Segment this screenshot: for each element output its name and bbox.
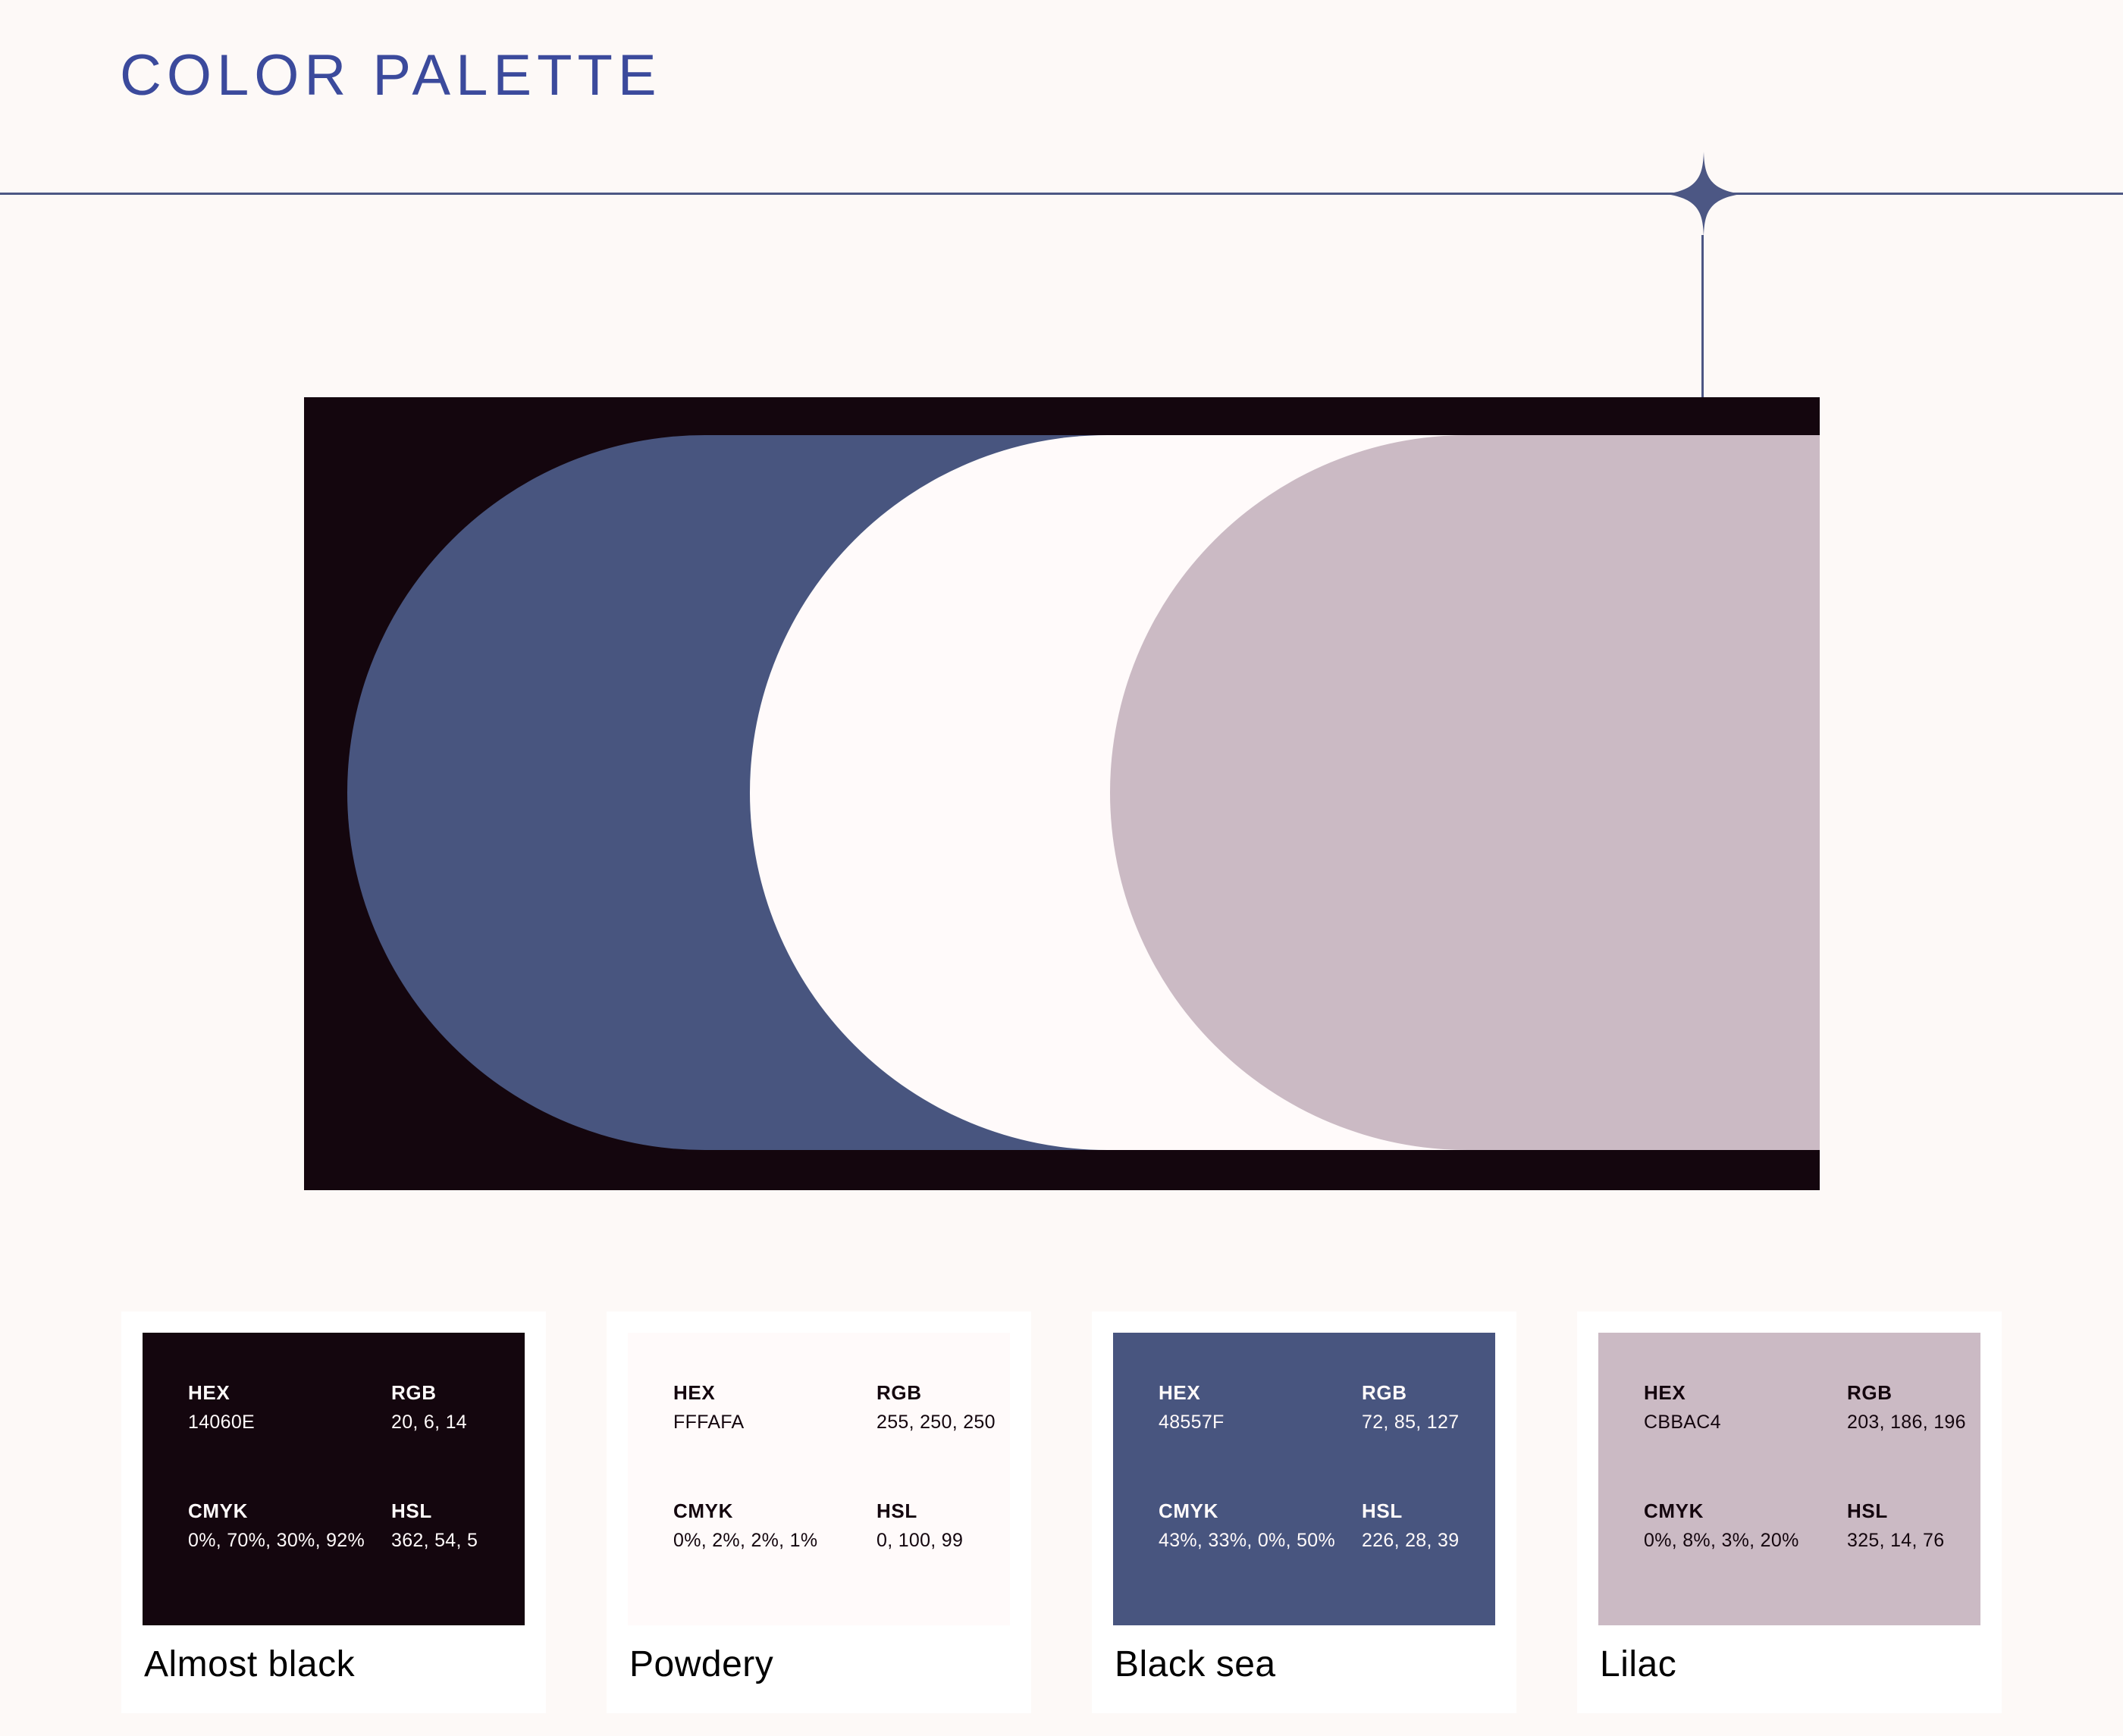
hsl-value: 0, 100, 99 — [876, 1529, 1010, 1553]
hsl-value: 226, 28, 39 — [1362, 1529, 1495, 1553]
hsl-field: HSL 226, 28, 39 — [1362, 1498, 1495, 1553]
color-swatch: HEX 14060E RGB 20, 6, 14 CMYK 0%, 70%, 3… — [143, 1333, 525, 1625]
hsl-label: HSL — [1362, 1498, 1495, 1524]
cmyk-label: CMYK — [673, 1498, 876, 1524]
color-name: Almost black — [144, 1645, 355, 1685]
hex-value: FFFAFA — [673, 1411, 876, 1434]
cmyk-value: 0%, 70%, 30%, 92% — [188, 1529, 391, 1553]
color-swatch: HEX FFFAFA RGB 255, 250, 250 CMYK 0%, 2%… — [628, 1333, 1010, 1625]
cmyk-field: CMYK 0%, 8%, 3%, 20% — [1644, 1498, 1847, 1553]
rgb-field: RGB 72, 85, 127 — [1362, 1380, 1495, 1434]
hex-field: HEX 48557F — [1159, 1380, 1362, 1434]
hsl-field: HSL 0, 100, 99 — [876, 1498, 1010, 1553]
hex-value: 48557F — [1159, 1411, 1362, 1434]
cmyk-value: 0%, 2%, 2%, 1% — [673, 1529, 876, 1553]
page-title: COLOR PALETTE — [120, 47, 662, 105]
cmyk-label: CMYK — [188, 1498, 391, 1524]
cmyk-field: CMYK 0%, 70%, 30%, 92% — [188, 1498, 391, 1553]
color-name: Powdery — [629, 1645, 773, 1685]
cmyk-value: 0%, 8%, 3%, 20% — [1644, 1529, 1847, 1553]
hsl-label: HSL — [391, 1498, 525, 1524]
rgb-label: RGB — [876, 1380, 1010, 1406]
sparkle-drop-line — [1701, 235, 1704, 398]
color-name: Black sea — [1115, 1645, 1276, 1685]
hsl-value: 325, 14, 76 — [1847, 1529, 1980, 1553]
swatch-card[interactable]: HEX 14060E RGB 20, 6, 14 CMYK 0%, 70%, 3… — [121, 1311, 546, 1713]
hex-field: HEX 14060E — [188, 1380, 391, 1434]
hex-value: 14060E — [188, 1411, 391, 1434]
hex-field: HEX CBBAC4 — [1644, 1380, 1847, 1434]
hsl-field: HSL 362, 54, 5 — [391, 1498, 525, 1553]
hsl-label: HSL — [876, 1498, 1010, 1524]
hex-field: HEX FFFAFA — [673, 1380, 876, 1434]
rgb-value: 255, 250, 250 — [876, 1411, 1010, 1434]
rgb-value: 203, 186, 196 — [1847, 1411, 1980, 1434]
color-swatch: HEX 48557F RGB 72, 85, 127 CMYK 43%, 33%… — [1113, 1333, 1495, 1625]
palette-banner — [304, 397, 1820, 1190]
swatch-card-list: HEX 14060E RGB 20, 6, 14 CMYK 0%, 70%, 3… — [121, 1311, 2062, 1713]
banner-layer-lilac — [1110, 435, 1820, 1150]
cmyk-field: CMYK 43%, 33%, 0%, 50% — [1159, 1498, 1362, 1553]
rgb-value: 20, 6, 14 — [391, 1411, 525, 1434]
cmyk-label: CMYK — [1159, 1498, 1362, 1524]
swatch-card[interactable]: HEX 48557F RGB 72, 85, 127 CMYK 43%, 33%… — [1092, 1311, 1516, 1713]
hex-label: HEX — [188, 1380, 391, 1406]
hex-label: HEX — [1159, 1380, 1362, 1406]
swatch-card[interactable]: HEX FFFAFA RGB 255, 250, 250 CMYK 0%, 2%… — [607, 1311, 1031, 1713]
hsl-label: HSL — [1847, 1498, 1980, 1524]
rgb-field: RGB 203, 186, 196 — [1847, 1380, 1980, 1434]
hex-value: CBBAC4 — [1644, 1411, 1847, 1434]
hsl-value: 362, 54, 5 — [391, 1529, 525, 1553]
rgb-label: RGB — [1847, 1380, 1980, 1406]
color-swatch: HEX CBBAC4 RGB 203, 186, 196 CMYK 0%, 8%… — [1598, 1333, 1980, 1625]
header-divider — [0, 193, 2123, 195]
rgb-field: RGB 20, 6, 14 — [391, 1380, 525, 1434]
rgb-label: RGB — [1362, 1380, 1495, 1406]
hex-label: HEX — [1644, 1380, 1847, 1406]
four-point-star-icon — [1666, 152, 1742, 237]
cmyk-field: CMYK 0%, 2%, 2%, 1% — [673, 1498, 876, 1553]
hex-label: HEX — [673, 1380, 876, 1406]
swatch-card[interactable]: HEX CBBAC4 RGB 203, 186, 196 CMYK 0%, 8%… — [1577, 1311, 2002, 1713]
rgb-value: 72, 85, 127 — [1362, 1411, 1495, 1434]
cmyk-value: 43%, 33%, 0%, 50% — [1159, 1529, 1362, 1553]
color-name: Lilac — [1600, 1645, 1676, 1685]
hsl-field: HSL 325, 14, 76 — [1847, 1498, 1980, 1553]
rgb-field: RGB 255, 250, 250 — [876, 1380, 1010, 1434]
cmyk-label: CMYK — [1644, 1498, 1847, 1524]
rgb-label: RGB — [391, 1380, 525, 1406]
